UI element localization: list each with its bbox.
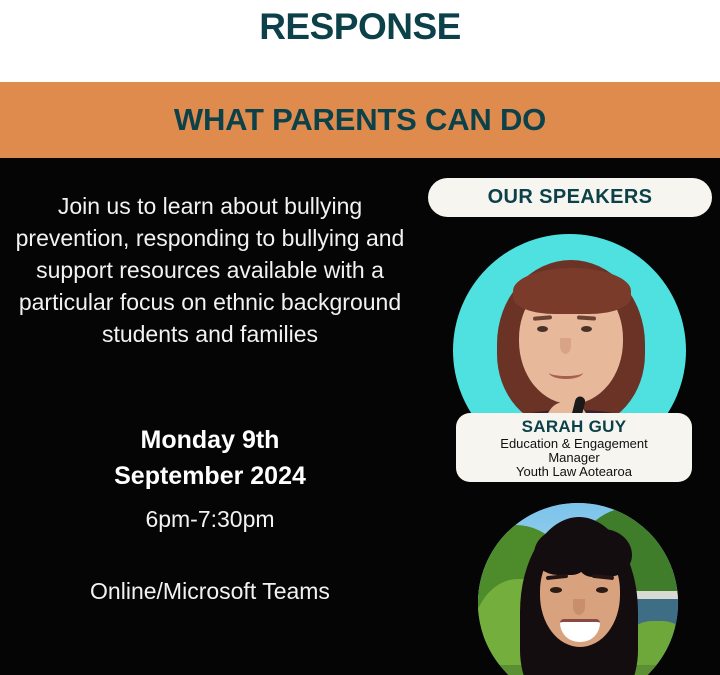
poster-subtitle: WHAT PARENTS CAN DO (174, 102, 546, 138)
speaker-1-role-line-2: Manager (548, 451, 599, 465)
speaker-2-eye-right (596, 587, 608, 593)
event-time: 6pm-7:30pm (10, 506, 410, 533)
speaker-2-hair-part-right (578, 529, 632, 577)
speaker-1-fringe (513, 268, 631, 314)
speaker-1-organisation: Youth Law Aotearoa (516, 465, 632, 479)
event-description: Join us to learn about bullying preventi… (10, 190, 410, 350)
speakers-heading-label: OUR SPEAKERS (488, 186, 653, 209)
poster-header-band: BULLYING PREVENTION & RESPONSE (0, 0, 720, 82)
poster-left-column: Join us to learn about bullying preventi… (0, 158, 420, 675)
speaker-1-eye-right (581, 326, 592, 332)
speaker-1-name: SARAH GUY (522, 417, 627, 437)
speaker-1-name-card: SARAH GUY Education & Engagement Manager… (456, 413, 692, 482)
speaker-2-eye-left (550, 587, 562, 593)
poster-subtitle-band: WHAT PARENTS CAN DO (0, 82, 720, 158)
event-date-line-2: September 2024 (10, 458, 410, 494)
event-poster: BULLYING PREVENTION & RESPONSE WHAT PARE… (0, 0, 720, 675)
speakers-heading-pill: OUR SPEAKERS (428, 178, 712, 217)
speaker-1-mouth (549, 366, 583, 379)
event-date: Monday 9th September 2024 (10, 422, 410, 494)
event-date-line-1: Monday 9th (10, 422, 410, 458)
event-platform: Online/Microsoft Teams (10, 578, 410, 605)
speaker-1-eye-left (537, 326, 548, 332)
speaker-2-nose (573, 599, 585, 615)
poster-title-line-2: RESPONSE (0, 6, 720, 48)
speaker-1-nose (560, 338, 571, 354)
poster-title: BULLYING PREVENTION & RESPONSE (0, 0, 720, 48)
speaker-2-photo (478, 503, 678, 675)
speaker-1-role-line-1: Education & Engagement (500, 437, 647, 451)
